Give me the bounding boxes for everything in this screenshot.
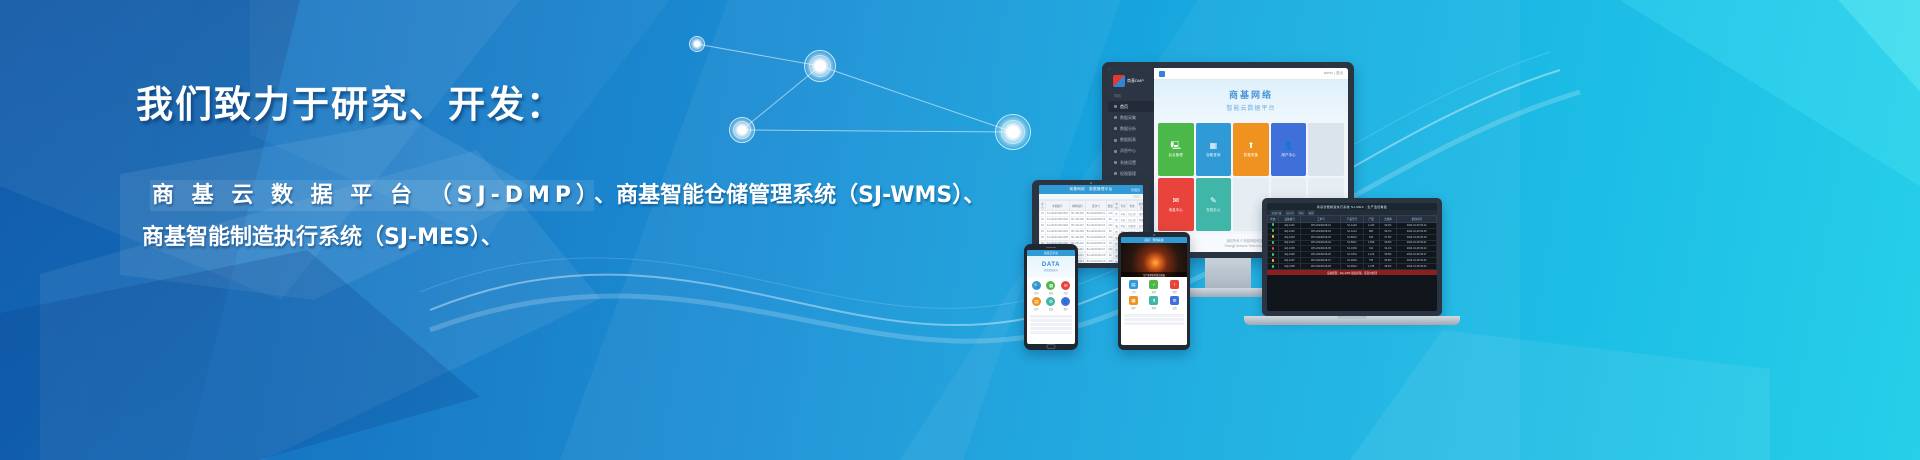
chart-icon: ▦: [1210, 142, 1218, 150]
small-tablet-mockup: 商基 · 现场看板 生产现场实时监控画面 ▤工单✓质检!预警▦排程⬆物料⚙设置: [1118, 232, 1190, 350]
app-glyph-icon: ⚙: [1170, 296, 1179, 305]
column-header: 更新时间: [1397, 216, 1437, 223]
alert-text: 设备报警：EQ-1005 温度超限，请及时处理: [1327, 271, 1377, 275]
column-header: 仓库: [1119, 201, 1126, 211]
sidebar-caption: 导航: [1108, 92, 1154, 101]
laptop-data-table: 状态设备编号工单号产品型号产量合格率更新时间 EQ-1001WO-2024010…: [1267, 215, 1437, 270]
column-header: 状态: [1268, 216, 1279, 223]
app-icon-item[interactable]: ⬆物料: [1145, 296, 1164, 310]
device-mockups: 商基DMP 导航 首页 数据采集 数据分析 数据报表 消息中心 系统设置 权限管…: [1010, 0, 1920, 460]
network-node: [804, 50, 836, 82]
tile-label: 在线办公: [1206, 207, 1220, 212]
bullet-icon: [1114, 172, 1117, 175]
tile-placeholder: [1308, 123, 1344, 176]
column-header: 物料编码: [1070, 201, 1086, 211]
laptop-header-title: 商基智能制造执行系统 SJ-MES · 生产监控看板: [1317, 205, 1387, 209]
list-item: [1124, 322, 1184, 325]
small-tablet-screen: 商基 · 现场看板 生产现场实时监控画面 ▤工单✓质检!预警▦排程⬆物料⚙设置: [1121, 237, 1187, 345]
filter-chip[interactable]: 待机: [1297, 210, 1305, 215]
laptop-notch: [1337, 316, 1367, 319]
bullet-icon: [1114, 116, 1117, 119]
laptop-mockup: 商基智能制造执行系统 SJ-MES · 生产监控看板 全部产线运行中待机报警 状…: [1262, 198, 1442, 316]
imac-stand: [1205, 258, 1251, 288]
sidebar-item-label: 消息中心: [1120, 148, 1136, 154]
app-icon-item[interactable]: 👤我的: [1059, 297, 1072, 311]
bullet-icon: [1114, 161, 1117, 164]
app-glyph-icon: 👤: [1061, 297, 1070, 306]
table-cell: BJ-20240108-09: [1085, 259, 1107, 263]
phone-hero: DATA 智能数据服务: [1027, 256, 1075, 278]
laptop-lid: 商基智能制造执行系统 SJ-MES · 生产监控看板 全部产线运行中待机报警 状…: [1262, 198, 1442, 316]
column-header: 单据编号: [1045, 201, 1069, 211]
app-glyph-icon: ▤: [1032, 297, 1041, 306]
column-header: 工单号: [1301, 216, 1341, 223]
table-cell: WO-20240108-08: [1301, 264, 1341, 270]
dashboard-logo: 商基DMP: [1108, 73, 1154, 92]
app-icon-label: 查询: [1034, 291, 1038, 295]
tile-user[interactable]: 👤用户中心: [1271, 123, 1307, 176]
tablet-header: 商基网络 · 数据管理平台 管理员: [1039, 185, 1143, 194]
upload-icon: ⬆: [1248, 142, 1255, 150]
app-glyph-icon: ✉: [1061, 281, 1070, 290]
home-button-icon[interactable]: [1047, 344, 1056, 349]
hero-subtitle: 智能云数据平台: [1226, 103, 1275, 112]
table-cell: 2024-01-08 09:33: [1397, 264, 1437, 270]
status-indicator-icon: [1272, 247, 1275, 250]
product-list: 商 基 云 数 据 平 台 （SJ-DMP）、商基智能仓储管理系统（SJ-WMS…: [136, 175, 936, 259]
table-cell: EQ-1008: [1278, 264, 1301, 270]
filter-chip[interactable]: 运行中: [1285, 210, 1295, 215]
sidebar-item-report[interactable]: 数据报表: [1108, 135, 1154, 146]
dashboard-hero: 商基网络 智能云数据平台: [1154, 80, 1348, 120]
product-dmp-highlight: 商 基 云 数 据 平 台 （SJ-DMP）: [150, 180, 594, 211]
app-glyph-icon: ▤: [1129, 280, 1138, 289]
app-glyph-icon: ⚙: [1046, 297, 1055, 306]
user-icon: 👤: [1284, 142, 1294, 150]
app-icon-label: 消息: [1063, 291, 1067, 295]
app-icon-item[interactable]: ✉消息: [1059, 281, 1072, 295]
sidebar-item-message[interactable]: 消息中心: [1108, 146, 1154, 157]
sidebar-item-permission[interactable]: 权限管理: [1108, 168, 1154, 179]
status-indicator-icon: [1272, 235, 1275, 238]
camera-icon: [1090, 182, 1092, 184]
list-item: [1030, 323, 1072, 326]
table-cell: 208: [1107, 259, 1114, 263]
status-indicator-icon: [1272, 241, 1275, 244]
monitoring-photo: 生产现场实时监控画面: [1121, 243, 1187, 277]
camera-icon: [1153, 234, 1155, 236]
status-indicator-icon: [1272, 265, 1275, 268]
list-item: [1030, 327, 1072, 330]
sidebar-item-settings[interactable]: 系统设置: [1108, 157, 1154, 168]
tile-message[interactable]: ✉消息中心: [1158, 178, 1194, 231]
toolbar-button[interactable]: [1133, 195, 1140, 198]
brand-logo-icon: [1113, 75, 1125, 87]
sidebar-item-label: 数据报表: [1120, 137, 1136, 143]
app-icon-item[interactable]: ⚙设置: [1165, 296, 1184, 310]
banner-copy: 我们致力于研究、开发： 商 基 云 数 据 平 台 （SJ-DMP）、商基智能仓…: [136, 86, 936, 259]
column-header: 批次号: [1085, 201, 1107, 211]
column-header: 产品型号: [1341, 216, 1363, 223]
product-line-1-rest: 、商基智能仓储管理系统（SJ-WMS）、: [594, 183, 985, 208]
network-node: [689, 36, 705, 52]
table-row[interactable]: EQ-1008WO-20240108-08SJ-D4411,37599.4%20…: [1268, 264, 1437, 270]
phone-hero-subtitle: 智能数据服务: [1044, 268, 1058, 272]
status-indicator-icon: [1272, 223, 1275, 226]
table-cell: SJ-D441: [1341, 264, 1363, 270]
bullet-icon: [1114, 127, 1117, 130]
photo-caption: 生产现场实时监控画面: [1121, 272, 1187, 277]
column-header: 设备编号: [1278, 216, 1301, 223]
list-item: [1030, 315, 1072, 318]
tile-label: 后台管理: [1169, 152, 1183, 157]
filter-chip[interactable]: 报警: [1307, 210, 1315, 215]
page-title: 我们致力于研究、开发：: [136, 86, 936, 123]
status-indicator-icon: [1272, 259, 1275, 262]
product-line-2: 商基智能制造执行系统（SJ-MES）、: [142, 217, 936, 259]
logo-text: 商基DMP: [1127, 78, 1144, 84]
tile-office[interactable]: ✎在线办公: [1196, 178, 1232, 231]
app-icon-item[interactable]: ⚙设备: [1045, 297, 1058, 311]
app-icon-item[interactable]: !预警: [1165, 280, 1184, 294]
phone-icon-grid: 🔍查询▦报表✉消息▤库存⚙设备👤我的: [1027, 278, 1075, 314]
small-tablet-list: [1121, 313, 1187, 327]
app-glyph-icon: ✓: [1149, 280, 1158, 289]
small-tablet-icon-grid: ▤工单✓质检!预警▦排程⬆物料⚙设置: [1121, 277, 1187, 313]
tablet-header-title: 商基网络 · 数据管理平台: [1069, 187, 1112, 192]
list-item: [1030, 319, 1072, 322]
dashboard-topbar: admin | 退出: [1154, 68, 1348, 80]
sidebar-item-label: 系统设置: [1120, 160, 1136, 166]
sidebar-item-label: 权限管理: [1120, 171, 1136, 177]
tile-query[interactable]: ▦自助查询: [1196, 123, 1232, 176]
table-header-row: 序号单据编号物料编码批次号数量单位仓库状态操作员日期: [1040, 201, 1144, 211]
mail-icon: ✉: [1172, 197, 1179, 205]
app-icon-label: 质检: [1152, 290, 1156, 294]
tile-label: 消息中心: [1169, 207, 1183, 212]
sidebar-item-home[interactable]: 首页: [1108, 101, 1154, 112]
app-icon-label: 报表: [1049, 291, 1053, 295]
app-icon-item[interactable]: ▦排程: [1124, 296, 1143, 310]
app-icon-label: 物料: [1152, 306, 1156, 310]
list-item: [1124, 314, 1184, 317]
product-line-1: 商 基 云 数 据 平 台 （SJ-DMP）、商基智能仓储管理系统（SJ-WMS…: [150, 175, 936, 217]
app-glyph-icon: 🔍: [1032, 281, 1041, 290]
app-glyph-icon: ▦: [1046, 281, 1055, 290]
table-header-row: 状态设备编号工单号产品型号产量合格率更新时间: [1268, 216, 1437, 223]
app-icon-item[interactable]: 🔍查询: [1030, 281, 1043, 295]
phone-header-title: 商基云平台: [1044, 251, 1058, 255]
table-cell: [1268, 264, 1279, 270]
app-icon-item[interactable]: ▤库存: [1030, 297, 1043, 311]
app-icon-label: 设备: [1049, 307, 1053, 311]
tile-backend[interactable]: 🖳后台管理: [1158, 123, 1194, 176]
sidebar-item-label: 数据分析: [1120, 126, 1136, 132]
tile-label: 用户中心: [1281, 152, 1295, 157]
bullet-icon: [1114, 105, 1117, 108]
bullet-icon: [1114, 150, 1117, 153]
table-cell: 99.4%: [1379, 264, 1397, 270]
tile-collect[interactable]: ⬆数据采集: [1233, 123, 1269, 176]
speaker-icon: [1046, 247, 1056, 248]
status-indicator-icon: [1272, 253, 1275, 256]
column-header: 状态: [1127, 201, 1138, 211]
monitor-icon: 🖳: [1170, 142, 1181, 150]
topbar-user[interactable]: admin | 退出: [1324, 71, 1343, 76]
column-header: 操作员: [1137, 201, 1143, 211]
phone-list: [1027, 314, 1075, 336]
sidebar-item-collect[interactable]: 数据采集: [1108, 112, 1154, 123]
hero-title: 商基网络: [1229, 88, 1273, 101]
sidebar-item-analysis[interactable]: 数据分析: [1108, 123, 1154, 134]
app-icon-label: 排程: [1131, 306, 1135, 310]
edit-icon: ✎: [1210, 197, 1217, 205]
status-indicator-icon: [1272, 229, 1275, 232]
app-icon: [1159, 71, 1165, 77]
column-header: 产量: [1363, 216, 1379, 223]
laptop-alert-bar: 设备报警：EQ-1005 温度超限，请及时处理: [1267, 270, 1437, 275]
list-item: [1124, 318, 1184, 321]
phone-mockup: 商基云平台 DATA 智能数据服务 🔍查询▦报表✉消息▤库存⚙设备👤我的: [1024, 244, 1078, 350]
app-glyph-icon: ⬆: [1149, 296, 1158, 305]
app-icon-label: 预警: [1172, 290, 1176, 294]
tablet-header-user[interactable]: 管理员: [1131, 188, 1140, 192]
app-icon-item[interactable]: ✓质检: [1145, 280, 1164, 294]
tile-label: 数据采集: [1244, 152, 1258, 157]
sidebar-item-label: 首页: [1120, 104, 1128, 110]
table-cell: 1,375: [1363, 264, 1379, 270]
small-tablet-header-title: 商基 · 现场看板: [1144, 238, 1163, 242]
column-header: 数量: [1107, 201, 1114, 211]
list-item: [1030, 331, 1072, 334]
banner-stage: 我们致力于研究、开发： 商 基 云 数 据 平 台 （SJ-DMP）、商基智能仓…: [0, 0, 1920, 460]
sidebar-item-label: 数据采集: [1120, 115, 1136, 121]
phone-screen: 商基云平台 DATA 智能数据服务 🔍查询▦报表✉消息▤库存⚙设备👤我的: [1027, 250, 1075, 344]
app-icon-label: 工单: [1131, 290, 1135, 294]
app-glyph-icon: !: [1170, 280, 1179, 289]
app-icon-item[interactable]: ▦报表: [1045, 281, 1058, 295]
app-icon-label: 库存: [1034, 307, 1038, 311]
app-icon-item[interactable]: ▤工单: [1124, 280, 1143, 294]
app-icon-label: 我的: [1063, 307, 1067, 311]
app-icon-label: 设置: [1172, 306, 1176, 310]
laptop-header: 商基智能制造执行系统 SJ-MES · 生产监控看板: [1267, 203, 1437, 210]
laptop-screen: 商基智能制造执行系统 SJ-MES · 生产监控看板 全部产线运行中待机报警 状…: [1267, 203, 1437, 311]
filter-chip[interactable]: 全部产线: [1270, 210, 1283, 215]
app-glyph-icon: ▦: [1129, 296, 1138, 305]
column-header: 合格率: [1379, 216, 1397, 223]
tile-label: 自助查询: [1206, 152, 1220, 157]
bullet-icon: [1114, 139, 1117, 142]
